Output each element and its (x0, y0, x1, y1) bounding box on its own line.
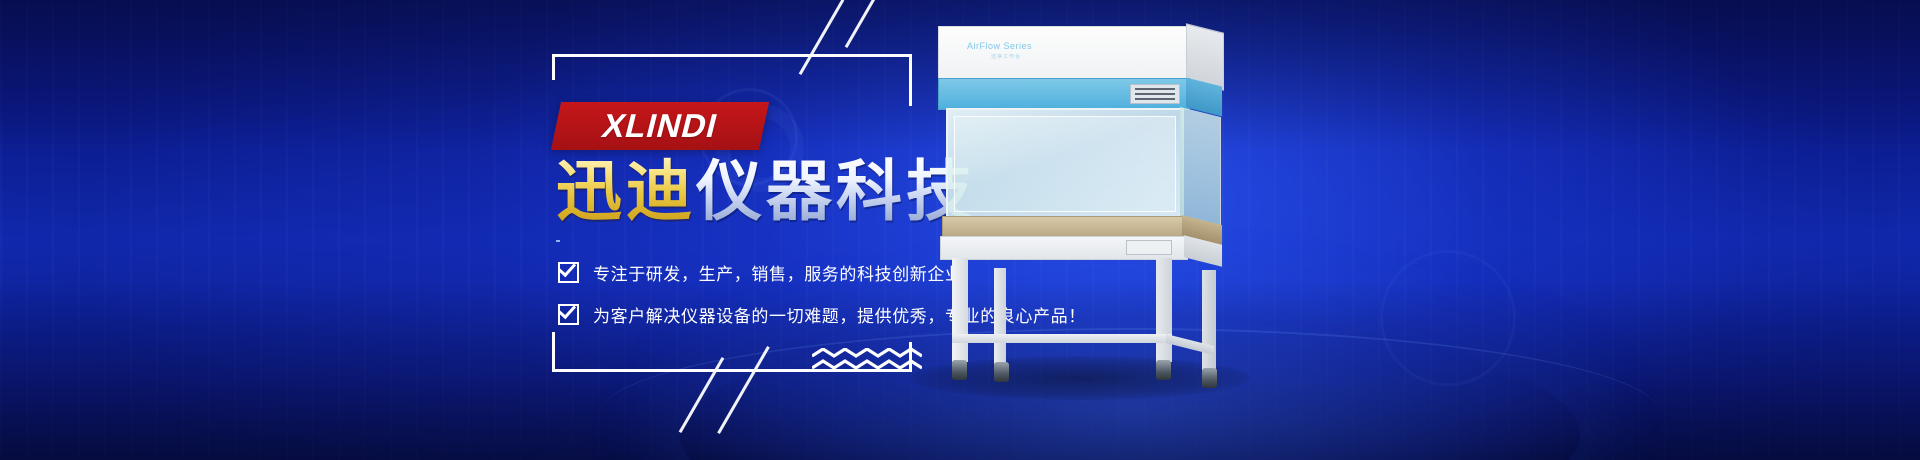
diagonal-slash-icon (799, 0, 845, 75)
product-crossbar (952, 334, 1172, 343)
headline-gold-text: 迅迪 (556, 154, 696, 228)
product-leg-front-right (1156, 258, 1172, 362)
product-image-clean-bench: AirFlow Series 洁净工作台 (930, 26, 1230, 386)
dotted-divider (556, 240, 914, 242)
product-caster (1156, 360, 1171, 380)
diagonal-slash-icon (679, 357, 725, 433)
diagonal-slash-icon (845, 0, 883, 48)
product-switch-panel (1126, 240, 1172, 255)
page-title: 迅迪仪器科技 (556, 158, 976, 224)
zigzag-wave-icon (812, 348, 922, 374)
brand-logo-text: XLINDI (598, 107, 722, 145)
diagonal-slash-icon (717, 346, 770, 434)
frame-bottom-line (552, 369, 912, 372)
panel-line (1135, 88, 1175, 90)
product-worktop (942, 216, 1186, 238)
promo-banner: XLINDI 迅迪仪器科技 专注于研发，生产，销售，服务的科技创新企业 为客户解… (0, 0, 1920, 460)
product-glass-sash (946, 108, 1184, 220)
product-caster (952, 360, 967, 380)
bullet-text: 专注于研发，生产，销售，服务的科技创新企业 (593, 260, 963, 285)
product-caster (994, 362, 1009, 382)
frame-bottom-right-stub (909, 342, 912, 372)
product-sub-label: 洁净工作台 (991, 53, 1021, 60)
watermark-ring-right-icon (1380, 250, 1516, 386)
product-glass-side (1180, 107, 1221, 229)
frame-top-left-stub (552, 54, 555, 80)
panel-line (1135, 93, 1175, 95)
product-top-cabinet: AirFlow Series 洁净工作台 (938, 26, 1190, 79)
product-control-panel (1130, 84, 1180, 104)
frame-top-line (552, 54, 912, 57)
product-leg-front-left (952, 258, 968, 362)
product-leg-back-left (994, 268, 1006, 364)
panel-line (1135, 98, 1175, 100)
brand-logo-plate: XLINDI (551, 102, 769, 150)
frame-bottom-left-stub (552, 332, 555, 372)
product-brand-label: AirFlow Series (967, 41, 1032, 51)
check-icon (558, 304, 579, 325)
product-glass-inner (954, 116, 1176, 212)
product-caster (1202, 368, 1217, 388)
check-icon (558, 262, 579, 283)
frame-top-right-stub (909, 54, 912, 106)
